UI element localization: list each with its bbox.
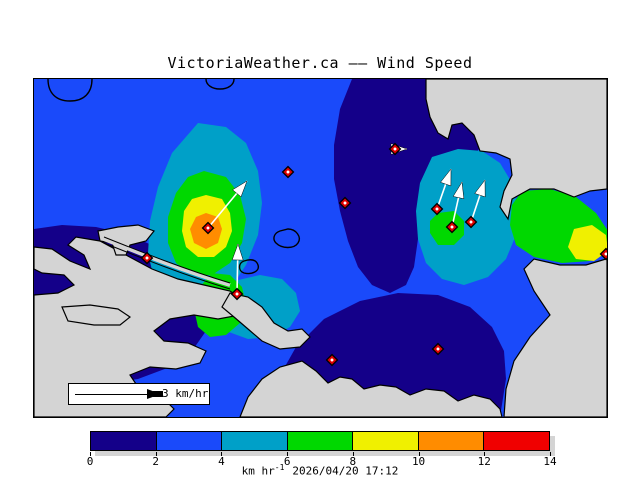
colorbar-band-2-4 xyxy=(157,432,223,450)
colorbar-units-exponent: -1 xyxy=(275,463,285,472)
colorbar-band-6-8 xyxy=(288,432,354,450)
scale-legend-box: 3 km/hr xyxy=(68,383,210,405)
colorbar-units-and-timestamp: km hr-12026/04/20 17:12 xyxy=(0,463,640,478)
colorbar-band-12-14 xyxy=(484,432,549,450)
wind-speed-contour-map xyxy=(34,79,607,417)
colorbar-band-10-12 xyxy=(419,432,485,450)
colorbar-wrap xyxy=(90,431,550,451)
scale-barb-shaft-icon xyxy=(75,394,153,395)
colorbar-units-prefix: km hr xyxy=(242,465,275,478)
weather-map-page: VictoriaWeather.ca —— Wind Speed xyxy=(0,0,640,480)
scale-legend-label: 3 km/hr xyxy=(162,387,208,400)
colorbar-band-4-6 xyxy=(222,432,288,450)
colorbar-timestamp: 2026/04/20 17:12 xyxy=(292,465,398,478)
colorbar-band-8-10 xyxy=(353,432,419,450)
map-plot-area xyxy=(33,78,608,418)
colorbar xyxy=(90,431,550,451)
colorbar-band-0-2 xyxy=(91,432,157,450)
page-title: VictoriaWeather.ca —— Wind Speed xyxy=(0,54,640,72)
